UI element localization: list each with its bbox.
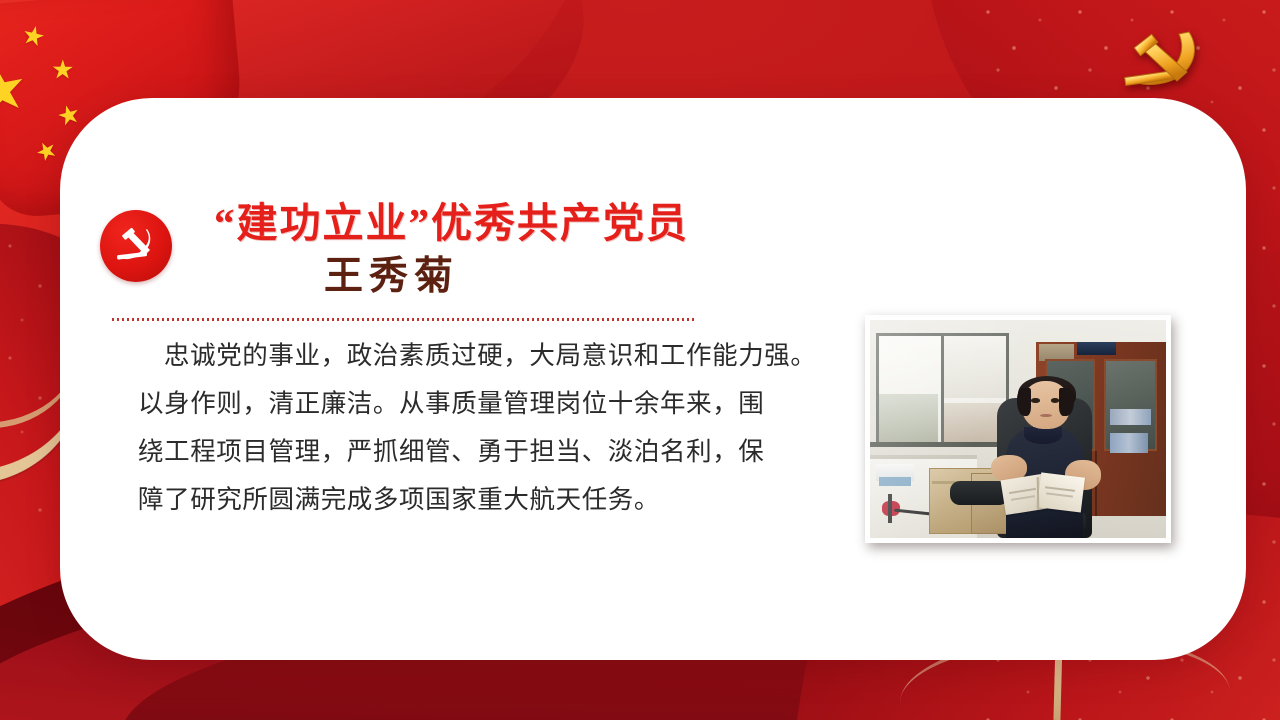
flag-star-small-4: ★ xyxy=(32,136,62,167)
title-block: “建功立业”优秀共产党员 王秀菊 xyxy=(100,198,800,303)
body-line-4: 障了研究所圆满完成多项国家重大航天任务。 xyxy=(138,476,838,524)
photo-frame xyxy=(865,315,1171,543)
dotted-divider xyxy=(112,318,697,321)
title-texts: “建功立业”优秀共产党员 王秀菊 xyxy=(214,198,689,303)
body-line-3: 绕工程项目管理，严抓细管、勇于担当、淡泊名利，保 xyxy=(138,428,838,476)
content-card: “建功立业”优秀共产党员 王秀菊 忠诚党的事业，政治素质过硬，大局意识和工作能力… xyxy=(60,98,1246,660)
body-paragraph: 忠诚党的事业，政治素质过硬，大局意识和工作能力强。 以身作则，清正廉洁。从事质量… xyxy=(138,332,838,524)
body-line-1: 忠诚党的事业，政治素质过硬，大局意识和工作能力强。 xyxy=(138,332,838,380)
flag-star-small-1: ★ xyxy=(19,20,48,51)
hammer-sickle-gold-icon xyxy=(1106,22,1216,100)
body-line-2: 以身作则，清正廉洁。从事质量管理岗位十余年来，围 xyxy=(138,380,838,428)
flag-star-large: ★ xyxy=(0,55,34,126)
person-name: 王秀菊 xyxy=(214,252,689,303)
flag-star-small-2: ★ xyxy=(51,56,75,82)
slide-root: ★ ★ ★ ★ ★ xyxy=(0,0,1280,720)
portrait-photo xyxy=(870,320,1166,538)
flag-star-small-3: ★ xyxy=(54,99,83,130)
page-title: “建功立业”优秀共产党员 xyxy=(214,198,689,249)
hammer-sickle-icon xyxy=(100,210,172,282)
